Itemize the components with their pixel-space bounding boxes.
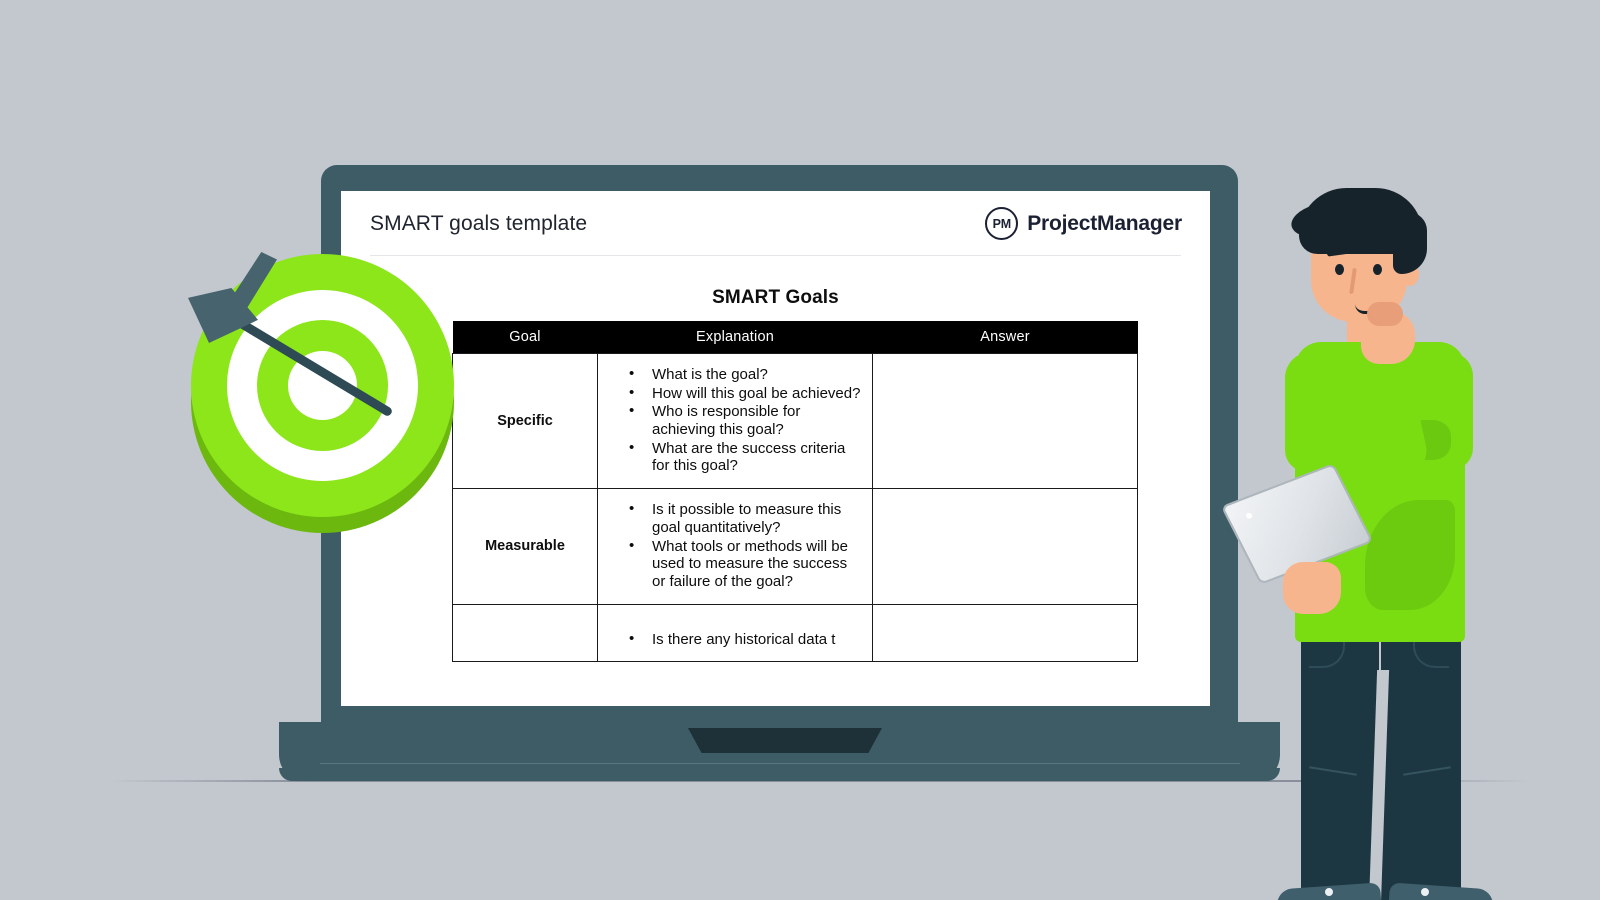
table-header-row: Goal Explanation Answer [453,321,1138,354]
goal-explanation-cell: Is it possible to measure this goal quan… [598,489,873,604]
goal-explanation-cell: Is there any historical data t [598,604,873,662]
explanation-list: Is it possible to measure this goal quan… [612,501,862,590]
list-item: Is it possible to measure this goal quan… [612,501,862,536]
eye-left [1335,264,1344,275]
smart-goals-table: Goal Explanation Answer Specific What is… [452,321,1138,662]
person-illustration [1255,170,1505,810]
page-title: SMART goals template [370,212,587,236]
list-item: What tools or methods will be used to me… [612,538,862,591]
laptop-screen: SMART goals template PM ProjectManager S… [341,191,1210,706]
tablet-camera-icon [1245,512,1253,520]
fingers-on-chin [1367,302,1403,326]
goal-name-cell: Specific [453,354,598,489]
list-item: What is the goal? [612,366,862,384]
explanation-list: Is there any historical data t [612,631,862,649]
explanation-list: What is the goal? How will this goal be … [612,366,862,475]
table-row: Specific What is the goal? How will this… [453,354,1138,489]
header-divider [370,255,1181,256]
goal-explanation-cell: What is the goal? How will this goal be … [598,354,873,489]
column-header-goal: Goal [453,321,598,354]
hand-holding-tablet [1283,562,1341,614]
list-item: Who is responsible for achieving this go… [612,403,862,438]
goal-answer-cell[interactable] [873,489,1138,604]
column-header-explanation: Explanation [598,321,873,354]
eye-right [1373,264,1382,275]
pm-logo-icon: PM [985,207,1018,240]
laptop-base-lip [279,768,1280,781]
document-heading: SMART Goals [341,287,1210,309]
list-item: Is there any historical data t [612,631,862,649]
tshirt-sleeve-left [1285,352,1347,472]
hair-side [1393,212,1427,274]
goal-answer-cell[interactable] [873,604,1138,662]
column-header-answer: Answer [873,321,1138,354]
laptop-base-seam [320,763,1240,764]
goal-name-cell: Measurable [453,489,598,604]
table-row: Measurable Is it possible to measure thi… [453,489,1138,604]
list-item: What are the success criteria for this g… [612,440,862,475]
table-row: Is there any historical data t [453,604,1138,662]
target-illustration [185,248,460,533]
goal-answer-cell[interactable] [873,354,1138,489]
brand-logo: PM ProjectManager [985,207,1182,240]
goal-name-cell [453,604,598,662]
document-header: SMART goals template PM ProjectManager [341,191,1210,256]
laptop-hinge-notch [688,728,882,753]
shoe-right [1388,882,1494,900]
brand-name: ProjectManager [1027,212,1182,236]
shoe-lace-right [1421,888,1429,896]
list-item: How will this goal be achieved? [612,385,862,403]
screenshot-canvas: SMART goals template PM ProjectManager S… [0,0,1600,900]
shoe-lace-left [1325,888,1333,896]
